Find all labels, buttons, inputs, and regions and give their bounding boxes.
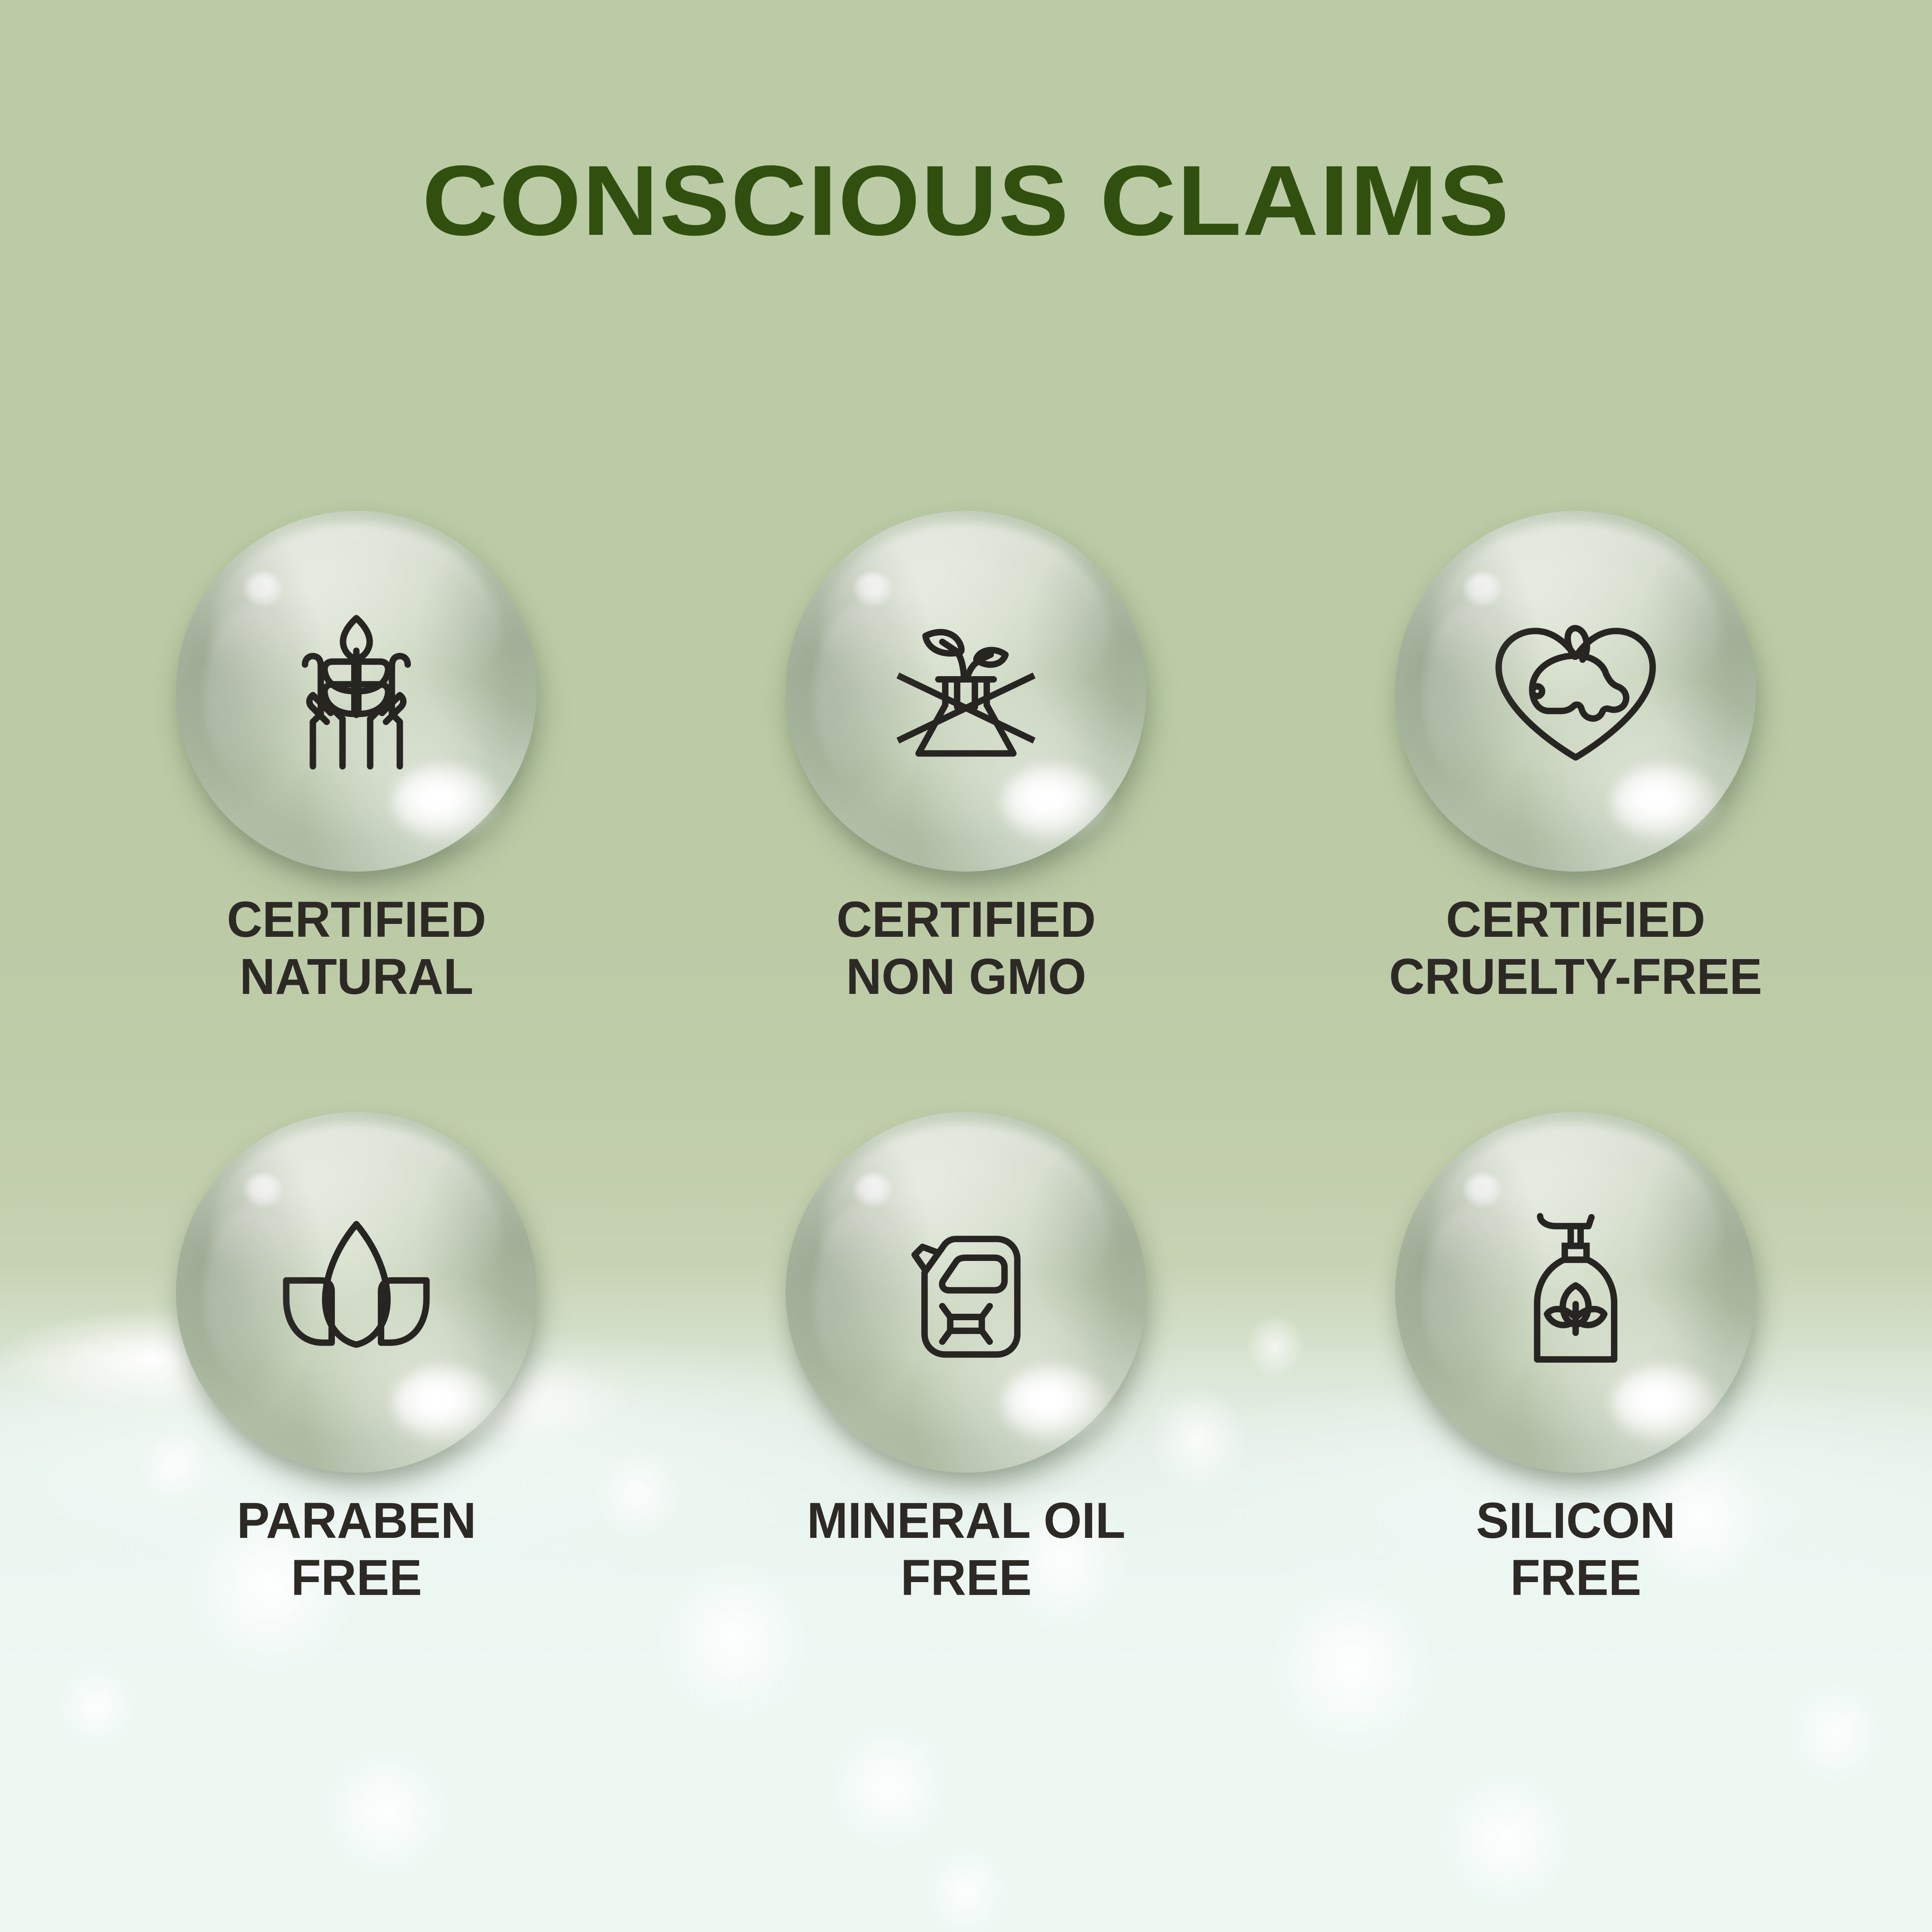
claim-bubble <box>1395 1112 1756 1473</box>
crossed-out-flask-plant-icon <box>786 511 1146 872</box>
page-title: CONSCIOUS CLAIMS <box>0 151 1932 251</box>
claims-grid: CERTIFIED NATURAL <box>52 511 1880 1713</box>
claim-label: SILICON FREE <box>1476 1492 1675 1607</box>
claim-bubble <box>786 511 1146 872</box>
rabbit-in-heart-icon <box>1395 511 1756 872</box>
conscious-claims-poster: CONSCIOUS CLAIMS <box>0 0 1932 1932</box>
claim-item[interactable]: PARABEN FREE <box>77 1112 635 1713</box>
pump-bottle-leaf-icon <box>1395 1112 1756 1473</box>
claim-item[interactable]: CERTIFIED CRUELTY-FREE <box>1297 511 1855 1112</box>
claim-bubble <box>176 511 537 872</box>
claim-label: PARABEN FREE <box>237 1492 476 1607</box>
jerrycan-oil-canister-icon <box>786 1112 1146 1473</box>
claim-item[interactable]: CERTIFIED NON GMO <box>687 511 1245 1112</box>
claim-item[interactable]: CERTIFIED NATURAL <box>77 511 635 1112</box>
claim-label: CERTIFIED CRUELTY-FREE <box>1389 891 1762 1006</box>
claim-bubble <box>176 1112 537 1473</box>
claim-label: CERTIFIED NATURAL <box>227 891 486 1006</box>
claim-label: CERTIFIED NON GMO <box>836 891 1096 1006</box>
hands-holding-wheat-icon <box>176 511 537 872</box>
claim-item[interactable]: SILICON FREE <box>1297 1112 1855 1713</box>
claim-item[interactable]: MINERAL OIL FREE <box>687 1112 1245 1713</box>
claim-label: MINERAL OIL FREE <box>807 1492 1125 1607</box>
claim-bubble <box>1395 511 1756 872</box>
three-leaves-lotus-icon <box>176 1112 537 1473</box>
claim-bubble <box>786 1112 1146 1473</box>
